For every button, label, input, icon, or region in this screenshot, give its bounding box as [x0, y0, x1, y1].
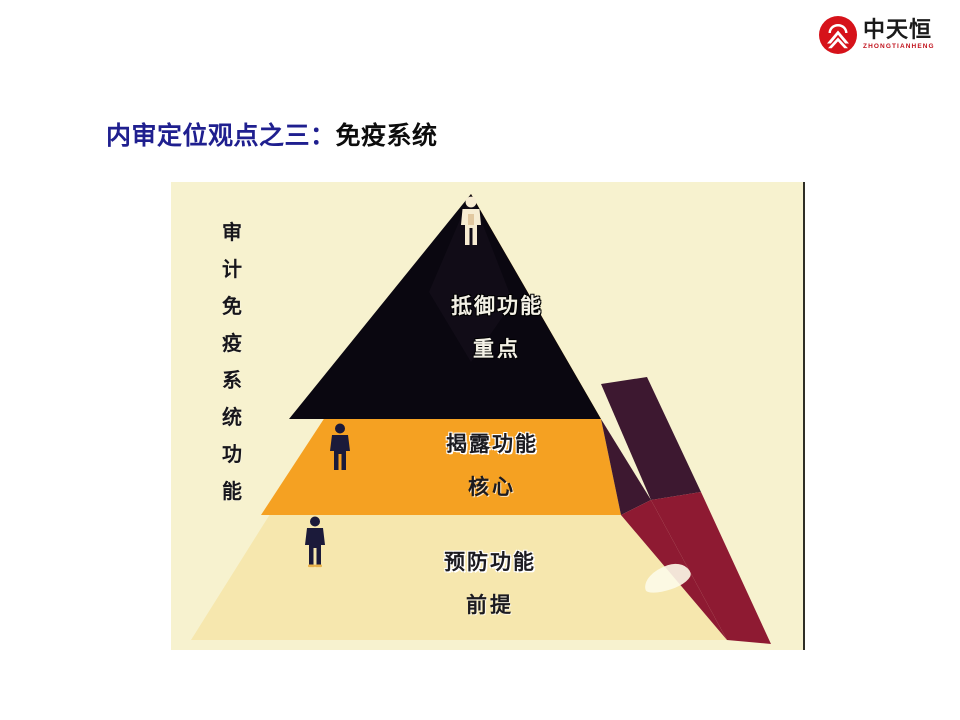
slide-title-secondary: 免疫系统	[336, 123, 438, 150]
vertical-caption-char: 统	[222, 407, 242, 427]
audit-immune-system-pyramid-figure: 审 计 免 疫 系 统 功 能 抵御功能 重点	[171, 182, 805, 650]
vertical-caption: 审 计 免 疫 系 统 功 能	[215, 222, 249, 518]
vertical-caption-char: 系	[222, 370, 242, 390]
vertical-caption-char: 功	[222, 444, 242, 464]
zhongtianheng-mountain-emblem-icon	[818, 15, 858, 55]
slide-title-primary: 内审定位观点之三：	[106, 123, 336, 150]
vertical-caption-char: 计	[222, 259, 242, 279]
brand-name-cn: 中天恒	[863, 19, 935, 41]
person-figure-base-icon	[301, 515, 329, 574]
vertical-caption-char: 审	[222, 222, 242, 242]
slide-title: 内审定位观点之三：免疫系统	[106, 116, 438, 152]
brand-logo: 中天恒 ZHONGTIANHENG	[818, 12, 946, 58]
vertical-caption-char: 能	[222, 481, 242, 501]
vertical-caption-char: 免	[222, 296, 242, 316]
brand-name-pinyin: ZHONGTIANHENG	[863, 44, 935, 51]
pyramid-graphic	[171, 182, 803, 650]
person-figure-middle-icon	[326, 422, 354, 477]
person-figure-apex-icon	[456, 195, 486, 252]
vertical-caption-char: 疫	[222, 333, 242, 353]
